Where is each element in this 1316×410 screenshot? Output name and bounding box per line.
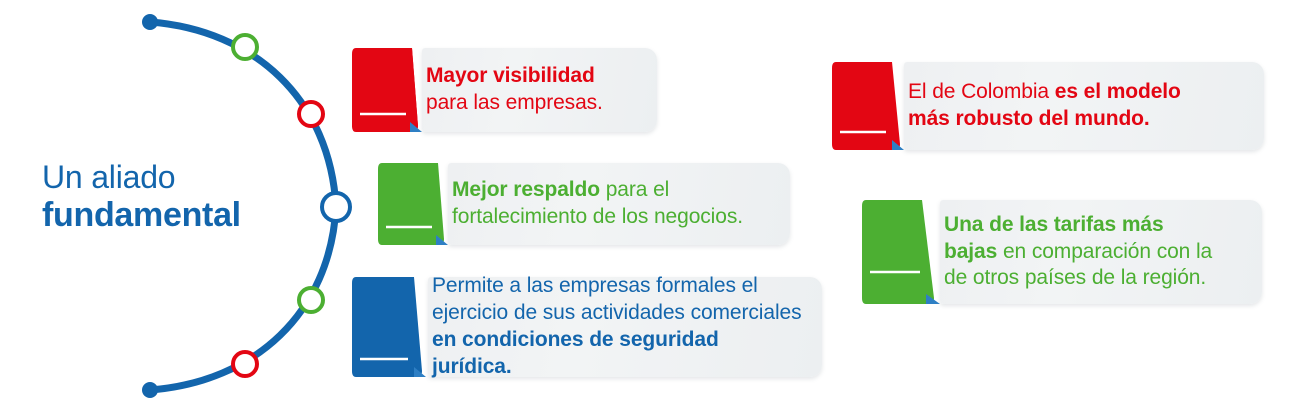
card-body-seguridad-juridica: Permite a las empresas formales el ejerc… bbox=[428, 277, 822, 377]
wedge-shape-icon bbox=[862, 200, 942, 304]
node-red-top[interactable] bbox=[299, 102, 323, 126]
node-red-bottom[interactable] bbox=[233, 352, 257, 376]
wedge-shape-icon bbox=[352, 277, 430, 377]
card-accent-wedge-blue bbox=[352, 277, 430, 377]
card-accent-wedge-green-2 bbox=[862, 200, 942, 304]
card-line: en condiciones de seguridad jurídica. bbox=[432, 327, 804, 381]
wedge-shape-icon bbox=[832, 62, 906, 150]
card-accent-wedge-green bbox=[378, 163, 450, 245]
endpoint-bottom-dot bbox=[142, 382, 158, 398]
card-line: fortalecimiento de los negocios. bbox=[452, 204, 743, 231]
infographic-canvas: Un aliado fundamental Mayor visibilidad … bbox=[0, 0, 1316, 410]
page-title: Un aliado fundamental bbox=[42, 160, 312, 234]
card-accent-wedge-red-2 bbox=[832, 62, 906, 150]
card-line: bajas en comparación con la bbox=[944, 239, 1212, 266]
node-green-bottom[interactable] bbox=[299, 288, 323, 312]
page-title-line1: Un aliado bbox=[42, 160, 312, 196]
card-body-mejor-respaldo: Mejor respaldo para el fortalecimiento d… bbox=[448, 163, 790, 245]
node-blue-mid[interactable] bbox=[322, 193, 350, 221]
card-text-modelo-colombia: El de Colombia es el modelo más robusto … bbox=[904, 69, 1199, 143]
card-body-mayor-visibilidad: Mayor visibilidad para las empresas. bbox=[422, 48, 657, 132]
card-modelo-colombia[interactable]: El de Colombia es el modelo más robusto … bbox=[832, 62, 1264, 150]
wedge-shape-icon bbox=[352, 48, 424, 132]
card-line: Una de las tarifas más bbox=[944, 212, 1212, 239]
card-mejor-respaldo[interactable]: Mejor respaldo para el fortalecimiento d… bbox=[378, 163, 790, 245]
card-seguridad-juridica[interactable]: Permite a las empresas formales el ejerc… bbox=[352, 277, 822, 377]
wedge-shape-icon bbox=[378, 163, 450, 245]
card-text-tarifas-bajas: Una de las tarifas más bajas en comparac… bbox=[940, 202, 1230, 303]
node-green-top[interactable] bbox=[233, 35, 257, 59]
card-line: Mayor visibilidad bbox=[426, 63, 603, 90]
card-line: ejercicio de sus actividades comerciales bbox=[432, 300, 804, 327]
card-line: Mejor respaldo para el bbox=[452, 177, 743, 204]
page-title-line2: fundamental bbox=[42, 196, 312, 234]
card-body-tarifas-bajas: Una de las tarifas más bajas en comparac… bbox=[940, 200, 1262, 304]
card-text-seguridad-juridica: Permite a las empresas formales el ejerc… bbox=[428, 263, 822, 391]
card-mayor-visibilidad[interactable]: Mayor visibilidad para las empresas. bbox=[352, 48, 657, 132]
card-line: para las empresas. bbox=[426, 90, 603, 117]
card-line: El de Colombia es el modelo bbox=[908, 79, 1181, 106]
card-line: de otros países de la región. bbox=[944, 265, 1212, 292]
card-line: más robusto del mundo. bbox=[908, 106, 1181, 133]
endpoint-top-dot bbox=[142, 14, 158, 30]
card-text-mejor-respaldo: Mejor respaldo para el fortalecimiento d… bbox=[448, 167, 761, 241]
card-text-mayor-visibilidad: Mayor visibilidad para las empresas. bbox=[422, 53, 621, 127]
card-body-modelo-colombia: El de Colombia es el modelo más robusto … bbox=[904, 62, 1264, 150]
card-tarifas-bajas[interactable]: Una de las tarifas más bajas en comparac… bbox=[862, 200, 1262, 304]
card-line: Permite a las empresas formales el bbox=[432, 273, 804, 300]
card-accent-wedge-red bbox=[352, 48, 424, 132]
